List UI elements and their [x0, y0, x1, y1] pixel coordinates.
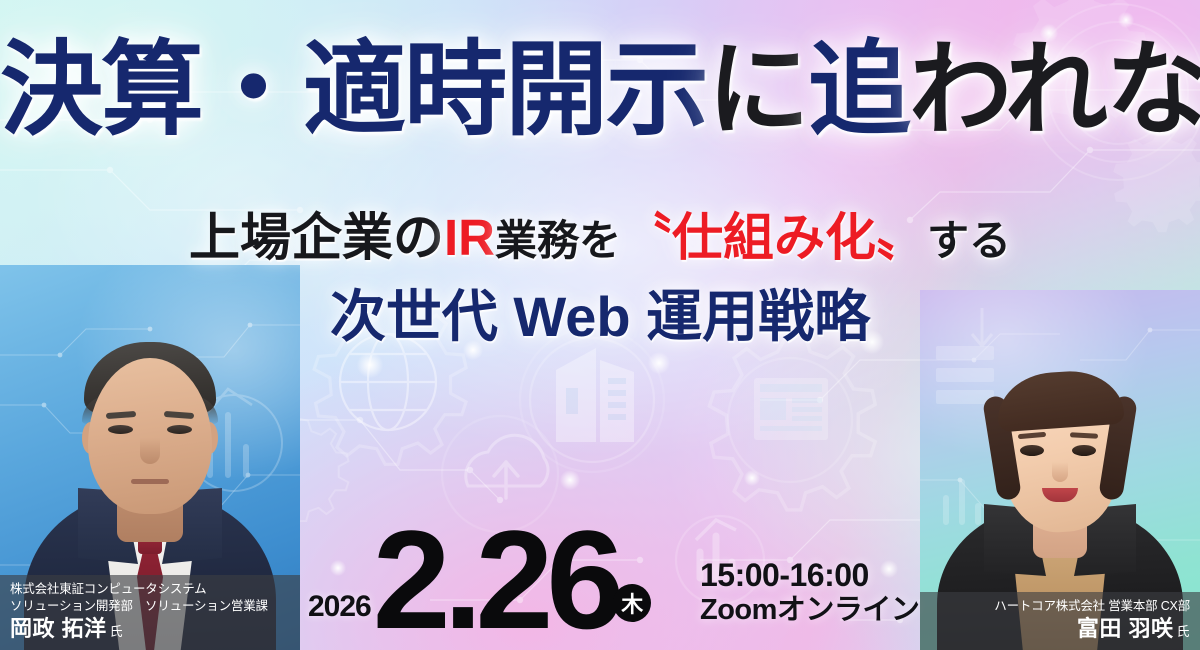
speaker-left-org-line-2: ソリューション開発部 ソリューション営業課: [10, 598, 290, 615]
event-platform: Zoomオンライン: [700, 594, 919, 626]
webinar-banner: 決算・適時開示に追われない！ 上場企業のIR業務を〝仕組み化〟する 次世代 We…: [0, 0, 1200, 650]
speaker-left-name: 岡政 拓洋: [10, 616, 107, 641]
speaker-caption-right: ハートコア株式会社 営業本部 CX部 富田 羽咲氏: [920, 592, 1200, 650]
speaker-left-org-line-1: 株式会社東証コンピュータシステム: [10, 581, 290, 598]
subtitle-line-2: 次世代 Web 運用戦略: [0, 272, 1200, 353]
speaker-right-org-line-1: ハートコア株式会社 営業本部 CX部: [930, 598, 1190, 615]
portrait-mouth: [131, 479, 169, 484]
event-weekday-badge: 木: [613, 584, 651, 622]
speaker-left-suffix: 氏: [110, 624, 124, 639]
portrait-eye-left: [1020, 445, 1044, 456]
speaker-right-suffix: 氏: [1176, 624, 1190, 639]
subtitle-line-1: 上場企業のIR業務を〝仕組み化〟する: [0, 196, 1200, 270]
portrait-eye-right: [1072, 445, 1096, 456]
headline-segment-1: 決算・適時開示: [0, 32, 707, 147]
speaker-right-name: 富田 羽咲: [1077, 616, 1174, 641]
headline-segment-4: われない！: [909, 32, 1200, 147]
portrait-eye-left: [108, 425, 133, 434]
portrait-nose: [1052, 462, 1068, 482]
portrait-nose: [140, 438, 160, 464]
headline-segment-3: 追: [808, 32, 909, 147]
headline-segment-2: に: [707, 32, 808, 147]
subtitle-part-1: 上場企業の: [189, 209, 444, 266]
event-date: 2.26: [373, 525, 617, 634]
event-time: 15:00-16:00: [700, 558, 919, 594]
speaker-right-name-row: 富田 羽咲氏: [930, 616, 1190, 642]
subtitle-line-2-text: 次世代 Web 運用戦略: [330, 272, 870, 353]
event-date-block: 2026 2.26 木: [308, 525, 651, 628]
event-time-block: 15:00-16:00 Zoomオンライン: [700, 558, 919, 626]
subtitle-part-3: 業務を: [495, 217, 621, 264]
speaker-caption-left: 株式会社東証コンピュータシステム ソリューション開発部 ソリューション営業課 岡…: [0, 575, 300, 650]
subtitle-part-5: する: [927, 217, 1011, 264]
headline: 決算・適時開示に追われない！: [0, 38, 1200, 141]
subtitle-part-ir: IR: [444, 209, 495, 266]
event-year: 2026: [308, 590, 371, 624]
speaker-left-name-row: 岡政 拓洋氏: [10, 616, 290, 642]
portrait-eye-right: [167, 425, 192, 434]
subtitle-part-shikumika: 〝仕組み化〟: [621, 209, 927, 266]
